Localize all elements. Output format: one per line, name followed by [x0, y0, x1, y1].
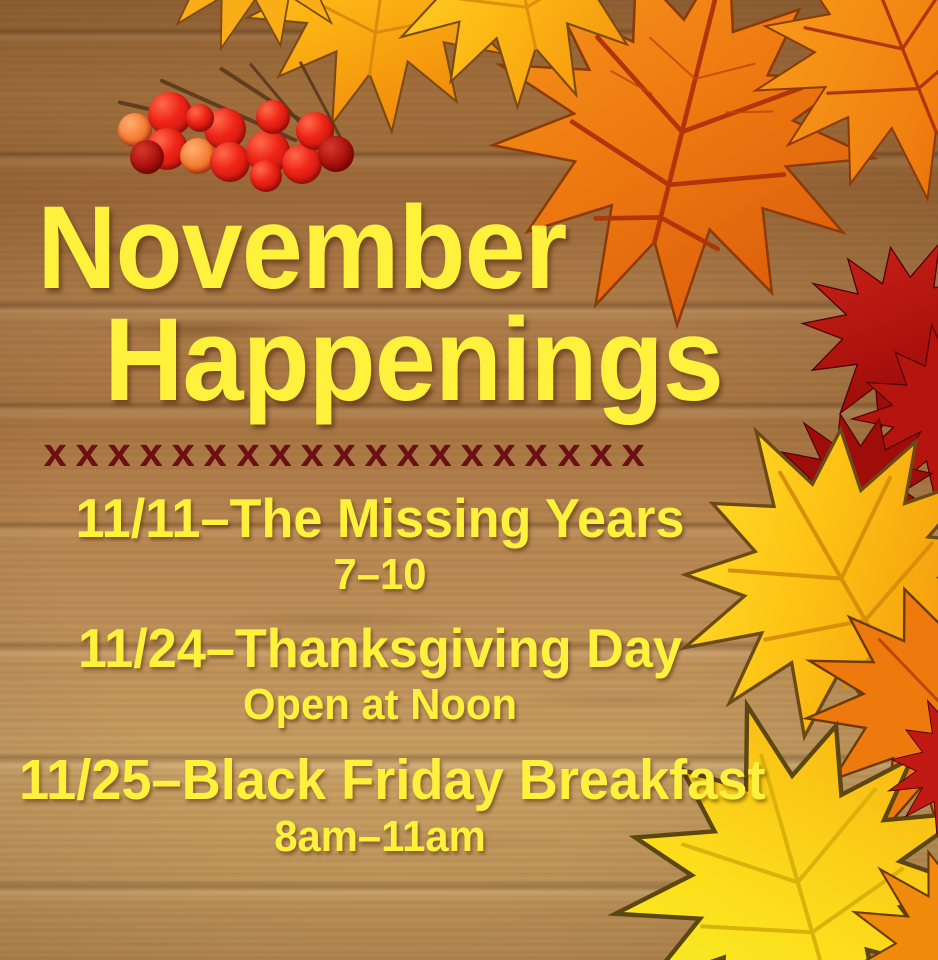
divider-x-icon: x [557, 434, 580, 472]
divider-x-icon: x [396, 434, 419, 472]
divider-x-icon: x [268, 434, 291, 472]
event-item: 11/11–The Missing Years7–10 [0, 488, 760, 602]
event-item: 11/25–Black Friday Breakfast8am–11am [0, 750, 760, 864]
poster-canvas: November Happenings xxxxxxxxxxxxxxxxxxx … [0, 0, 938, 960]
divider-x-icon: x [525, 434, 548, 472]
page-title: November Happenings [0, 192, 595, 416]
divider-x-icon: x [332, 434, 355, 472]
divider-x-icon: x [621, 434, 644, 472]
divider-x-icon: x [76, 434, 99, 472]
event-time: Open at Noon [19, 678, 741, 732]
divider-x-icon: x [108, 434, 131, 472]
divider-x-icon: x [140, 434, 163, 472]
event-title: 11/24–Thanksgiving Day [19, 618, 741, 678]
title-line-1: November [0, 192, 595, 304]
title-line-2: Happenings [0, 304, 595, 416]
event-time: 7–10 [19, 548, 741, 602]
event-title: 11/11–The Missing Years [19, 488, 741, 548]
event-item: 11/24–Thanksgiving DayOpen at Noon [0, 618, 760, 732]
divider-x-row: xxxxxxxxxxxxxxxxxxx [44, 434, 644, 472]
divider-x-icon: x [43, 434, 66, 472]
divider-x-icon: x [172, 434, 195, 472]
divider-x-icon: x [589, 434, 612, 472]
divider-x-icon: x [493, 434, 516, 472]
divider-x-icon: x [429, 434, 452, 472]
divider-x-icon: x [461, 434, 484, 472]
event-time: 8am–11am [19, 810, 741, 864]
divider-x-icon: x [364, 434, 387, 472]
event-list: 11/11–The Missing Years7–1011/24–Thanksg… [0, 488, 760, 864]
divider-x-icon: x [300, 434, 323, 472]
event-title: 11/25–Black Friday Breakfast [19, 750, 741, 810]
divider-x-icon: x [236, 434, 259, 472]
divider-x-icon: x [204, 434, 227, 472]
